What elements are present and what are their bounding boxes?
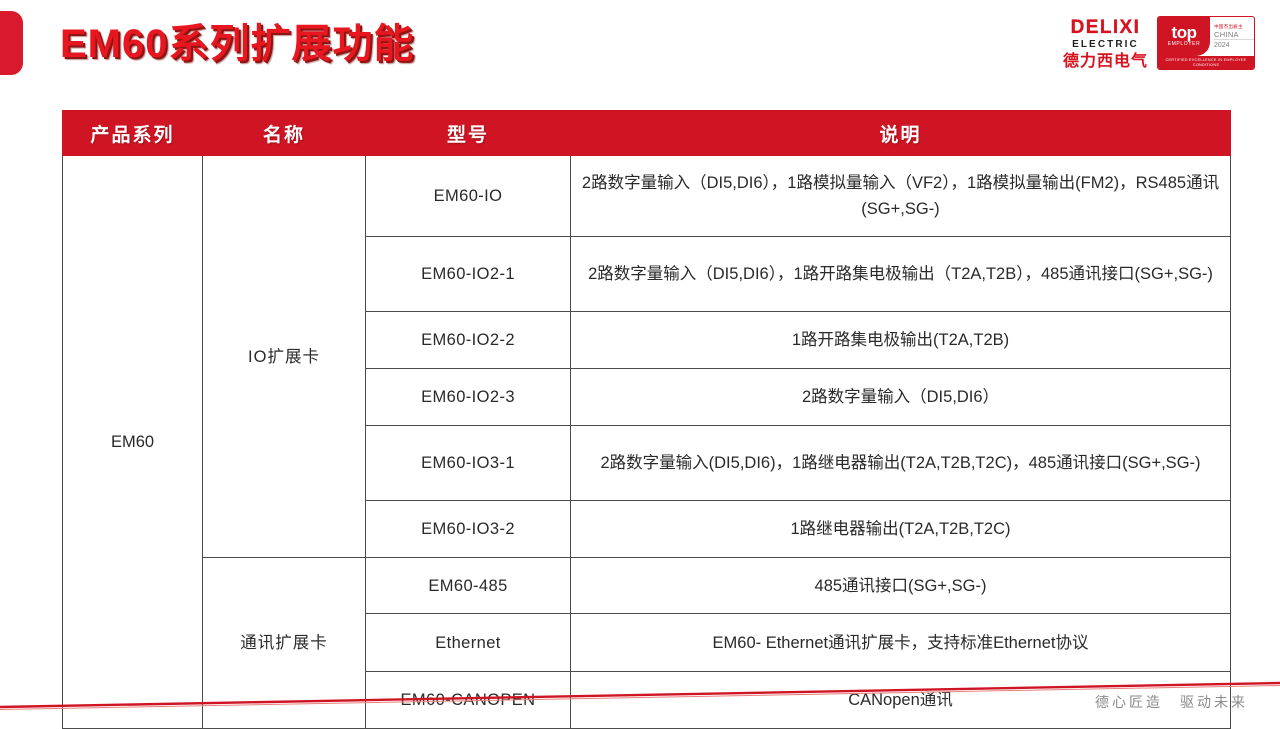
footer-slogan: 德心匠造 驱动未来 [1095,692,1248,712]
table-row: 通讯扩展卡 EM60-485 485通讯接口(SG+,SG-) [63,558,1231,614]
logo-brand-sub-text: ELECTRIC [1072,38,1139,51]
cell-model: EM60-IO2-2 [366,312,571,369]
cell-product-series: EM60 [63,156,203,729]
cell-description: 2路数字量输入（DI5,DI6） [571,369,1231,426]
top-employer-badge: top EMPLOYER 中国杰出雇主 CHINA 2024 CERTIFIED… [1157,16,1255,70]
cell-model: EM60-IO3-2 [366,501,571,558]
badge-country-text: CHINA [1214,30,1254,39]
cell-group-name-io: IO扩展卡 [203,156,366,558]
badge-left-panel: top EMPLOYER [1158,17,1210,56]
logo-brand-cn-text: 德力西电气 [1063,52,1148,71]
cell-description: 485通讯接口(SG+,SG-) [571,558,1231,614]
badge-right-panel: 中国杰出雇主 CHINA 2024 [1210,17,1254,56]
cell-model: EM60-IO [366,156,571,237]
cell-description: 2路数字量输入(DI5,DI6)，1路继电器输出(T2A,T2B,T2C)，48… [571,426,1231,501]
column-header-series: 产品系列 [63,111,203,156]
page-title: EM60系列扩展功能 [60,16,415,72]
table-body: EM60 IO扩展卡 EM60-IO 2路数字量输入（DI5,DI6），1路模拟… [63,156,1231,729]
badge-main: top EMPLOYER 中国杰出雇主 CHINA 2024 [1158,17,1254,56]
cell-description: 2路数字量输入（DI5,DI6），1路开路集电极输出（T2A,T2B），485通… [571,237,1231,312]
badge-certification-strip: CERTIFIED EXCELLENCE IN EMPLOYEE CONDITI… [1158,56,1254,69]
brand-logo: DELIXI ELECTRIC 德力西电气 top EMPLOYER 中国杰出雇… [1063,16,1255,71]
logo-brand-text: DELIXI [1071,18,1141,38]
title-accent-bar [0,11,23,75]
badge-employer-text: EMPLOYER [1168,41,1201,48]
column-header-model: 型号 [366,111,571,156]
cell-model: EM60-485 [366,558,571,614]
cell-model: EM60-IO3-1 [366,426,571,501]
table-header-row: 产品系列 名称 型号 说明 [63,111,1231,156]
cell-model: EM60-IO2-1 [366,237,571,312]
cell-model: EM60-IO2-3 [366,369,571,426]
column-header-name: 名称 [203,111,366,156]
table-row: EM60 IO扩展卡 EM60-IO 2路数字量输入（DI5,DI6），1路模拟… [63,156,1231,237]
badge-top-text: top [1172,25,1197,41]
badge-year-text: 2024 [1214,39,1254,50]
cell-description: 1路开路集电极输出(T2A,T2B) [571,312,1231,369]
cell-description: 2路数字量输入（DI5,DI6），1路模拟量输入（VF2），1路模拟量输出(FM… [571,156,1231,237]
delixi-wordmark: DELIXI ELECTRIC 德力西电气 [1063,16,1148,71]
column-header-description: 说明 [571,111,1231,156]
footer-decorative-line [0,660,1280,720]
cell-description: 1路继电器输出(T2A,T2B,T2C) [571,501,1231,558]
expansion-spec-table: 产品系列 名称 型号 说明 EM60 IO扩展卡 EM60-IO 2路数字量输入… [62,110,1231,729]
